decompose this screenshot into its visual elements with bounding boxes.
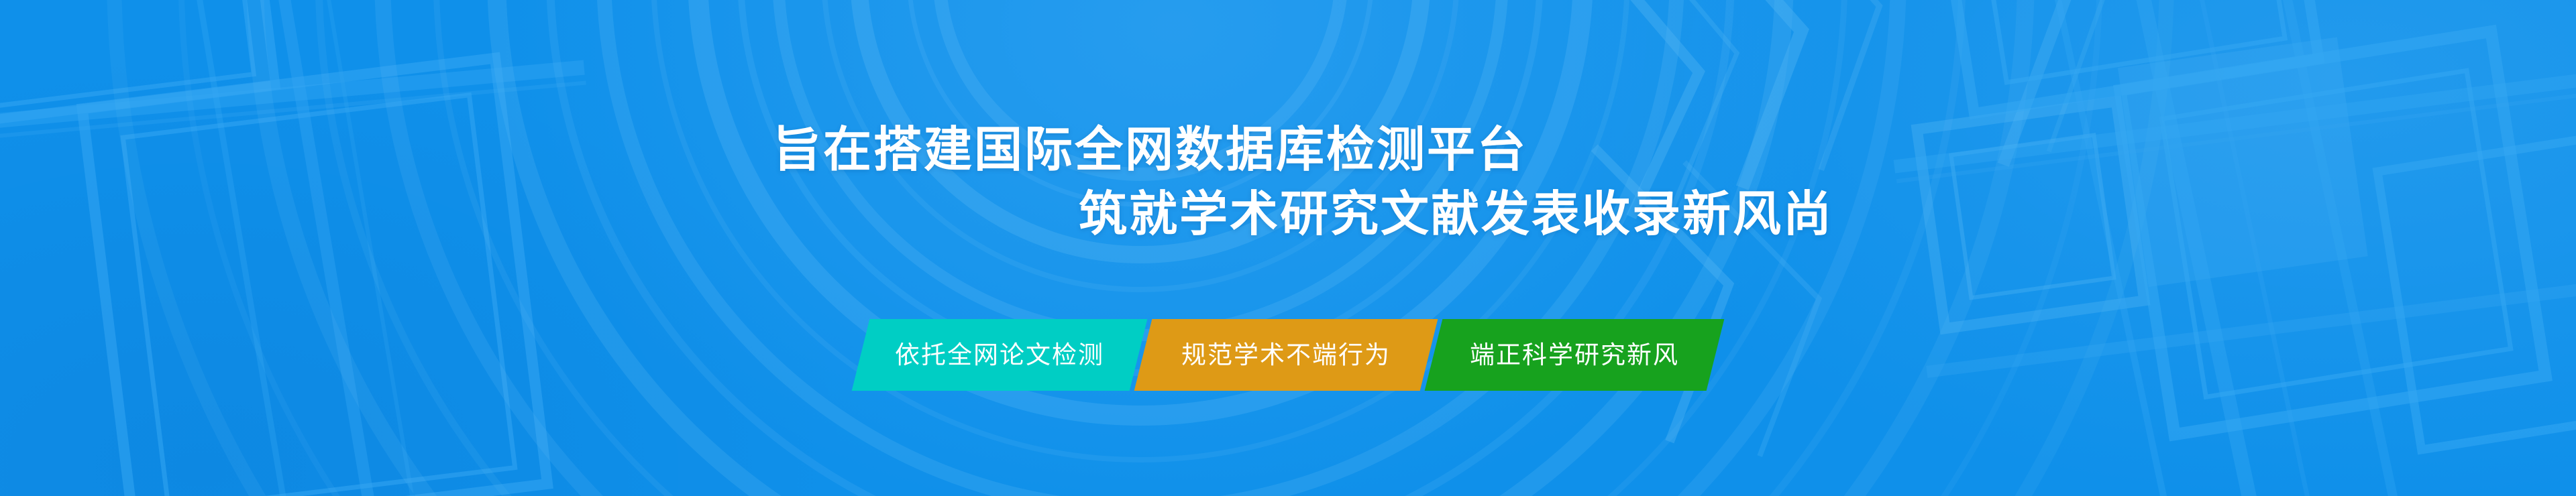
feature-tag-research-integrity[interactable]: 端正科学研究新风 [1425, 319, 1725, 391]
feature-tag-band: 依托全网论文检测 规范学术不端行为 端正科学研究新风 [0, 319, 2576, 391]
feature-tag-plagiarism-detection[interactable]: 依托全网论文检测 [852, 319, 1148, 391]
feature-tag-misconduct-regulation[interactable]: 规范学术不端行为 [1134, 319, 1438, 391]
headline-line-2: 筑就学术研究文献发表收录新风尚 [1079, 182, 2576, 247]
background-glow [0, 0, 2576, 496]
feature-tag-label: 依托全网论文检测 [856, 343, 1143, 367]
background-grid-left-decoration [0, 0, 2576, 496]
background-chevron-decoration [0, 0, 2576, 496]
background-arc-rings-decoration [0, 0, 2576, 496]
feature-tag-label: 规范学术不端行为 [1142, 343, 1430, 367]
feature-tag-label: 端正科学研究新风 [1431, 343, 1718, 367]
promo-banner: 旨在搭建国际全网数据库检测平台 筑就学术研究文献发表收录新风尚 依托全网论文检测… [0, 0, 2576, 496]
headline: 旨在搭建国际全网数据库检测平台 筑就学术研究文献发表收录新风尚 [0, 118, 2576, 247]
background-grid-right-decoration [0, 0, 2576, 496]
headline-line-1: 旨在搭建国际全网数据库检测平台 [773, 118, 2576, 182]
